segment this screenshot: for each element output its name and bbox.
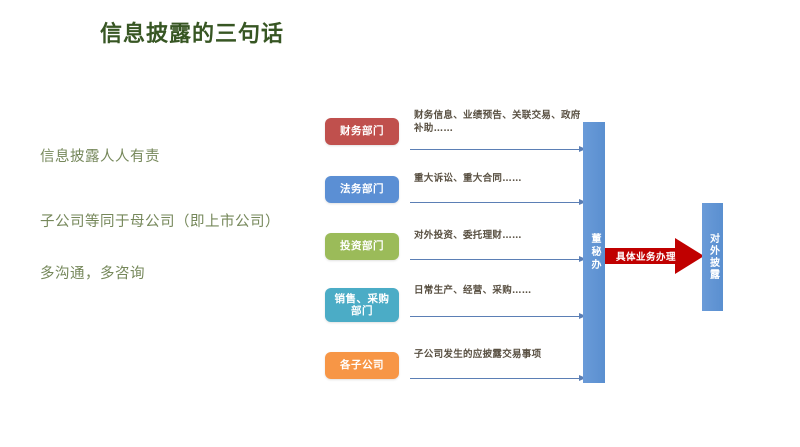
flow-arrow-subsidiaries: 子公司发生的应披露交易事项 — [410, 352, 588, 392]
arrow-line — [410, 149, 580, 150]
flow-row-investment: 投资部门 对外投资、委托理财…… — [325, 233, 590, 273]
arrow-line — [410, 378, 580, 379]
flow-row-finance: 财务部门 财务信息、业绩预告、关联交易、政府补助…… — [325, 118, 590, 158]
flow-arrow-finance: 财务信息、业绩预告、关联交易、政府补助…… — [410, 118, 588, 158]
flow-caption-finance: 财务信息、业绩预告、关联交易、政府补助…… — [414, 110, 588, 136]
key-point-2: 子公司等同于母公司（即上市公司） — [40, 210, 280, 231]
central-node-label: 董秘办 — [589, 233, 599, 272]
key-point-3: 多沟通，多咨询 — [40, 262, 145, 283]
arrow-line — [410, 259, 580, 260]
flow-row-subsidiaries: 各子公司 子公司发生的应披露交易事项 — [325, 352, 590, 392]
slide-canvas: 信息披露的三句话 信息披露人人有责 子公司等同于母公司（即上市公司） 多沟通，多… — [0, 0, 800, 447]
flow-caption-legal: 重大诉讼、重大合同…… — [414, 173, 588, 186]
flow-arrow-investment: 对外投资、委托理财…… — [410, 233, 588, 273]
page-title: 信息披露的三句话 — [100, 16, 284, 48]
flow-caption-sales-procurement: 日常生产、经营、采购…… — [414, 285, 588, 298]
dept-box-subsidiaries[interactable]: 各子公司 — [325, 352, 399, 379]
central-node-board-secretary-office[interactable]: 董秘办 — [583, 122, 605, 383]
dept-box-investment[interactable]: 投资部门 — [325, 233, 399, 260]
flow-arrow-sales-procurement: 日常生产、经营、采购…… — [410, 288, 588, 328]
flow-row-sales-procurement: 销售、采购 部门 日常生产、经营、采购…… — [325, 288, 590, 328]
arrow-line — [410, 316, 580, 317]
flow-caption-subsidiaries: 子公司发生的应披露交易事项 — [414, 349, 588, 362]
dept-box-sales-procurement[interactable]: 销售、采购 部门 — [325, 288, 399, 322]
flow-caption-investment: 对外投资、委托理财…… — [414, 230, 588, 243]
dept-box-legal[interactable]: 法务部门 — [325, 176, 399, 203]
process-arrow: 具体业务办理 — [605, 237, 704, 275]
flow-arrow-legal: 重大诉讼、重大合同…… — [410, 176, 588, 216]
output-node-label: 对外披露 — [708, 233, 718, 281]
output-node-external-disclosure[interactable]: 对外披露 — [702, 203, 723, 311]
flow-row-legal: 法务部门 重大诉讼、重大合同…… — [325, 176, 590, 216]
dept-box-finance[interactable]: 财务部门 — [325, 118, 399, 145]
arrow-line — [410, 202, 580, 203]
key-point-1: 信息披露人人有责 — [40, 145, 160, 166]
process-arrow-label: 具体业务办理 — [609, 249, 683, 263]
